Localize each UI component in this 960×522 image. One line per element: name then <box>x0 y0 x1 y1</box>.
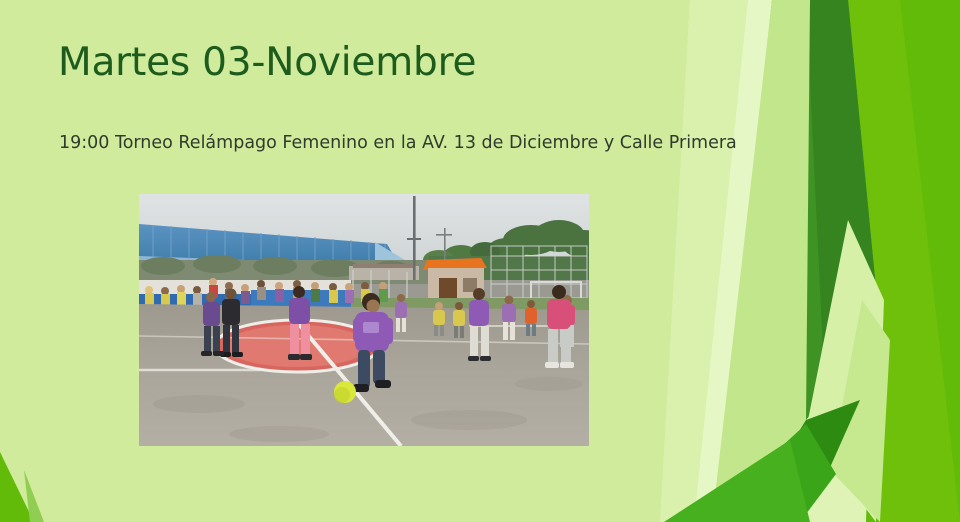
facet-bottom-left-wedge-light <box>24 470 44 522</box>
facet-bottom-sweep <box>700 424 836 522</box>
slide-subtitle-event-line: 19:00 Torneo Relámpago Femenino en la AV… <box>59 133 737 153</box>
womens-futsal-match-photo <box>139 194 589 446</box>
facet-bottom-sweep-2 <box>664 440 810 522</box>
facet-dark-blade <box>737 0 880 420</box>
facet-midlight-wedge <box>712 0 810 522</box>
facet-deep-notch <box>742 400 860 522</box>
facet-light-triangle-2 <box>830 300 890 522</box>
photo-soccer-ball-shade <box>334 387 350 403</box>
photo-light-pole-arm <box>407 238 421 240</box>
facet-light-triangle <box>806 220 884 522</box>
photo-far-building-roof <box>353 264 415 268</box>
facet-pale-wedge-b <box>694 0 772 522</box>
slide-title: Martes 03-Noviembre <box>58 40 476 85</box>
facet-pale-base <box>660 0 960 522</box>
facet-dark-blade-shade <box>806 0 880 372</box>
photo-far-building <box>349 266 419 280</box>
facet-bright-right-2 <box>830 0 960 522</box>
facet-bright-right <box>866 0 960 522</box>
photo-antenna-cross <box>436 234 452 236</box>
facet-bottom-left-wedge <box>0 452 34 522</box>
presentation-slide: Martes 03-Noviembre 19:00 Torneo Relámpa… <box>0 0 960 522</box>
facet-pale-wedge-a <box>660 0 760 522</box>
